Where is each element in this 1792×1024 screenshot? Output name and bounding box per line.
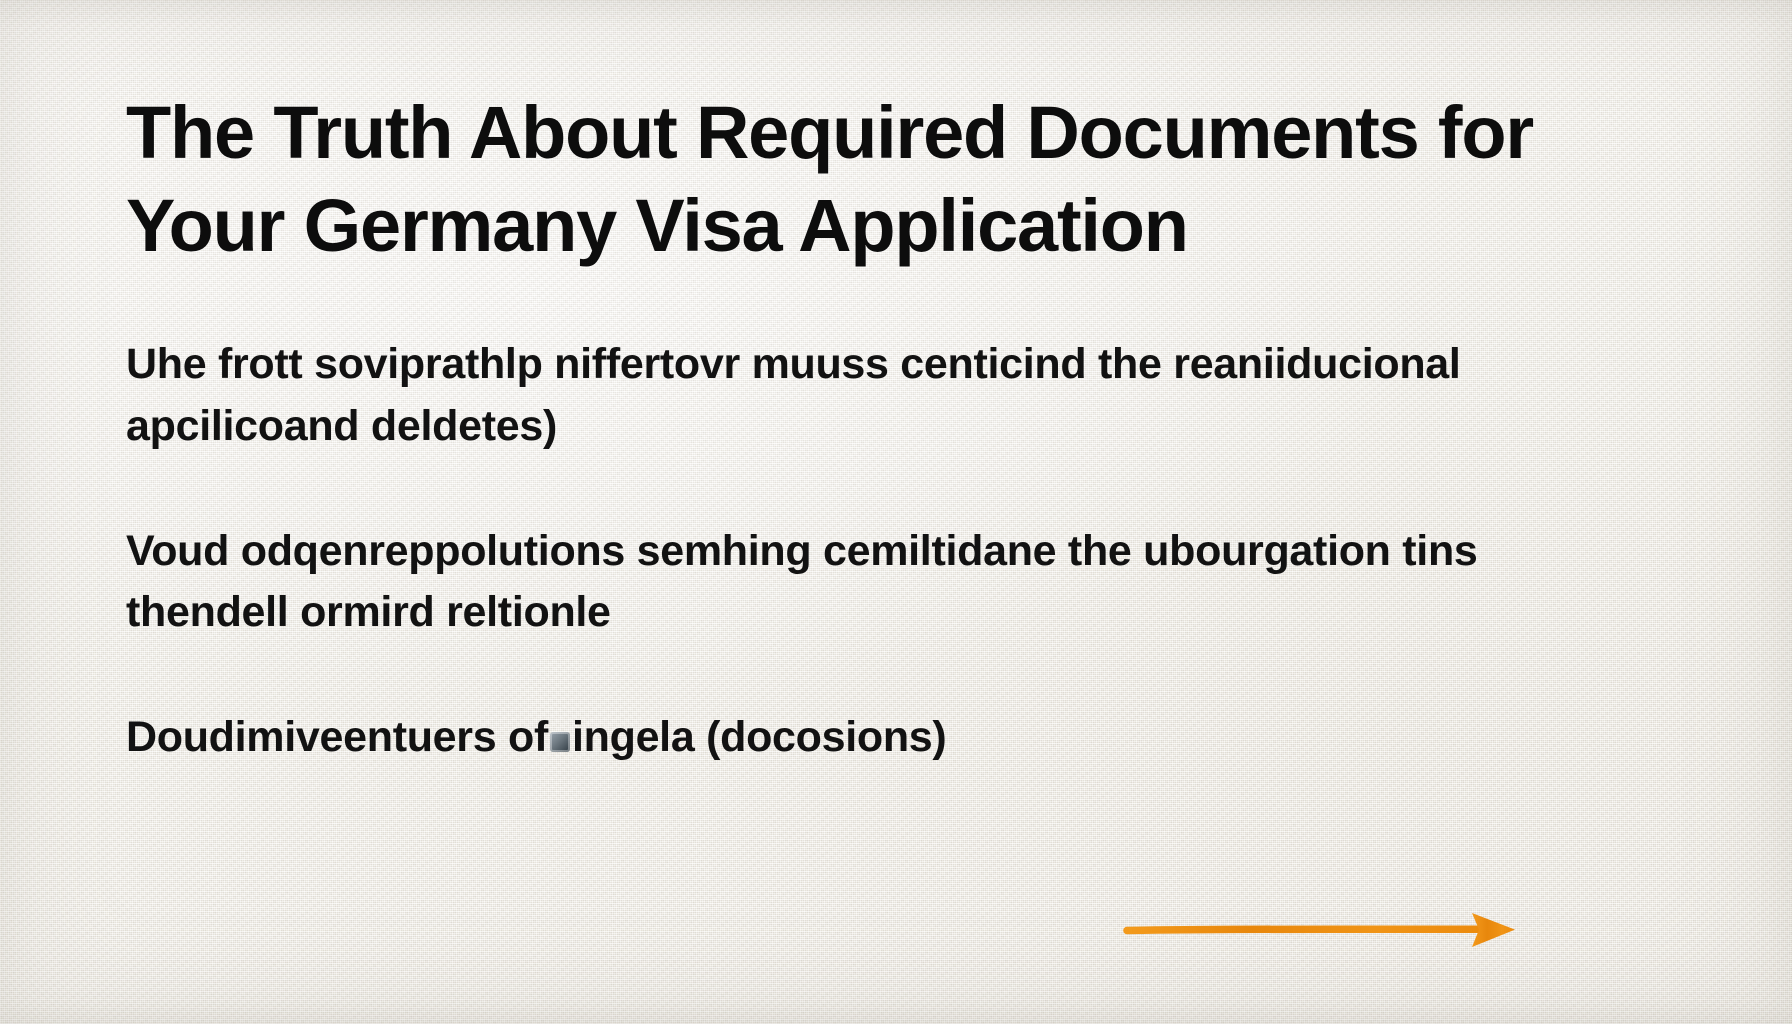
slide-title: The Truth About Required Documents for Y…	[126, 86, 1646, 272]
body-paragraph-2: Voud odqenreppolutions semhing cemiltida…	[126, 521, 1516, 643]
slide-canvas: The Truth About Required Documents for Y…	[0, 0, 1792, 1024]
unknown-glyph-artifact-icon	[550, 732, 570, 752]
paragraph-3-text-after-glyph: ingela (docosions)	[572, 713, 946, 761]
paragraph-3-text-before-glyph: Doudimiveentuers of	[126, 713, 548, 761]
right-arrow-container	[1123, 905, 1523, 955]
body-paragraph-1: Uhe frott soviprathlp niffertovr muuss c…	[126, 334, 1516, 456]
right-arrow-icon	[1123, 905, 1523, 955]
body-paragraph-3: Doudimiveentuers ofingela (docosions)	[126, 707, 1516, 768]
slide-content: The Truth About Required Documents for Y…	[126, 86, 1686, 768]
